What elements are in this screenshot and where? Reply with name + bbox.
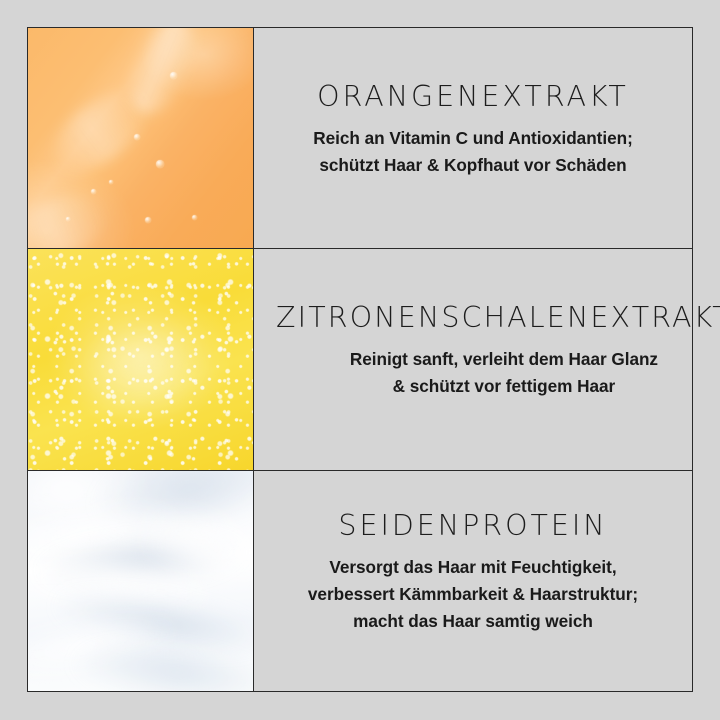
orange-gel-texture-image [28, 28, 254, 248]
description-line: Reinigt sanft, verleiht dem Haar Glanz [350, 346, 658, 373]
gel-bubble [156, 160, 164, 168]
ingredient-title: ORANGENEXTRAKT [317, 82, 629, 112]
ingredient-row: SEIDENPROTEIN Versorgt das Haar mit Feuc… [28, 470, 692, 691]
gel-bubble [170, 72, 177, 79]
description-line: schützt Haar & Kopfhaut vor Schäden [313, 152, 633, 179]
zest-flecks [28, 249, 253, 469]
ingredient-text-block: SEIDENPROTEIN Versorgt das Haar mit Feuc… [254, 471, 692, 691]
gel-bubble [192, 215, 197, 220]
ingredient-title: ZITRONENSCHALENEXTRAKT [276, 303, 720, 333]
ingredient-benefits-card: ORANGENEXTRAKT Reich an Vitamin C und An… [27, 27, 693, 692]
ingredient-description: Reich an Vitamin C und Antioxidantien; s… [313, 125, 633, 179]
lemon-zest-texture-image [28, 249, 254, 469]
ingredient-title: SEIDENPROTEIN [338, 511, 607, 541]
ingredient-text-block: ORANGENEXTRAKT Reich an Vitamin C und An… [254, 28, 692, 248]
gel-bubble [109, 180, 113, 184]
gel-highlight-streak [28, 183, 116, 249]
ingredient-text-block: ZITRONENSCHALENEXTRAKT Reinigt sanft, ve… [254, 249, 720, 469]
description-line: Reich an Vitamin C und Antioxidantien; [313, 125, 633, 152]
description-line: verbessert Kämmbarkeit & Haarstruktur; [308, 581, 638, 608]
ingredient-row: ZITRONENSCHALENEXTRAKT Reinigt sanft, ve… [28, 248, 692, 469]
description-line: & schützt vor fettigem Haar [350, 373, 658, 400]
gel-bubble [145, 217, 151, 223]
gel-bubble [134, 134, 140, 140]
gel-bubble [91, 189, 96, 194]
description-line: macht das Haar samtig weich [308, 608, 638, 635]
ingredient-description: Versorgt das Haar mit Feuchtigkeit, verb… [308, 554, 638, 634]
ingredient-description: Reinigt sanft, verleiht dem Haar Glanz &… [350, 346, 658, 400]
description-line: Versorgt das Haar mit Feuchtigkeit, [308, 554, 638, 581]
white-foam-texture-image [28, 471, 254, 691]
ingredient-row: ORANGENEXTRAKT Reich an Vitamin C und An… [28, 28, 692, 248]
